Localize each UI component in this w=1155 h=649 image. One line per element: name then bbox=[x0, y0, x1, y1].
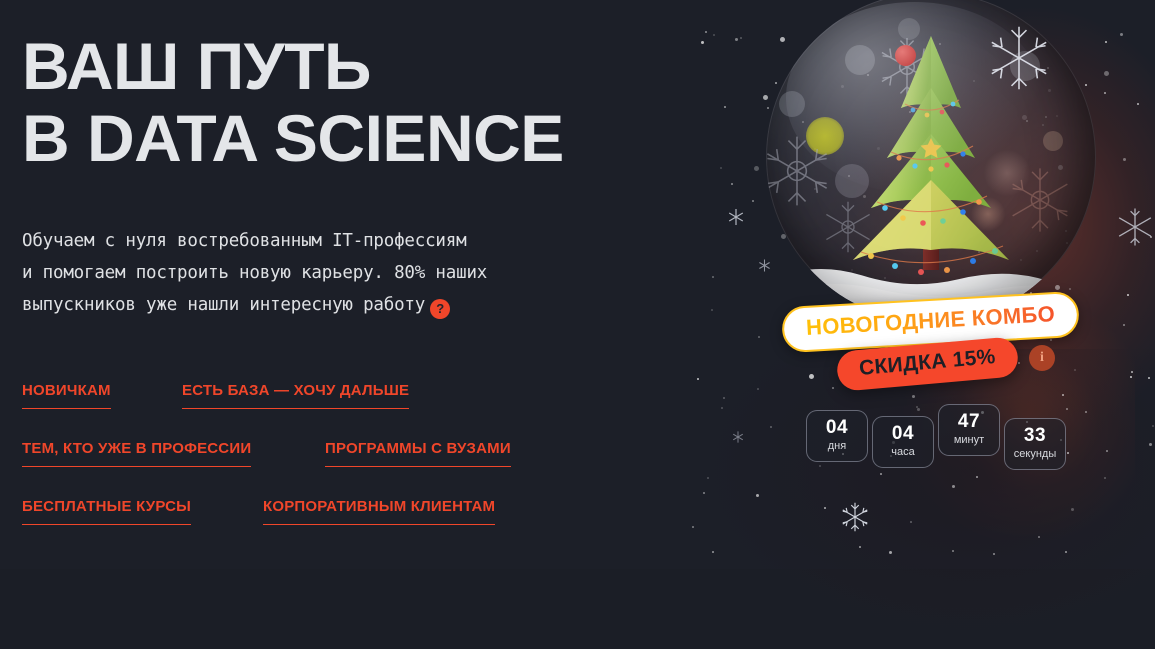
star-dot bbox=[832, 387, 834, 389]
snow-globe bbox=[766, 0, 1096, 322]
hero-content: ВАШ ПУТЬ В DATA SCIENCE Обучаем с нуля в… bbox=[22, 0, 662, 569]
star-dot bbox=[712, 551, 714, 553]
star-dot bbox=[1104, 92, 1106, 94]
globe-rim bbox=[766, 0, 1096, 322]
star-dot bbox=[859, 546, 861, 548]
star-dot bbox=[1050, 339, 1052, 341]
snowflake-icon bbox=[731, 430, 745, 444]
star-dot bbox=[952, 550, 954, 552]
star-dot bbox=[910, 521, 912, 523]
star-dot bbox=[712, 276, 714, 278]
countdown-value: 04 bbox=[892, 424, 914, 444]
star-dot bbox=[1131, 371, 1133, 373]
star-dot bbox=[713, 34, 715, 36]
star-dot bbox=[1065, 551, 1067, 553]
star-dot bbox=[1105, 41, 1107, 43]
star-dot bbox=[1150, 236, 1152, 238]
star-dot bbox=[1062, 394, 1064, 396]
page-title: ВАШ ПУТЬ В DATA SCIENCE bbox=[22, 30, 564, 174]
star-dot bbox=[692, 526, 694, 528]
star-dot bbox=[1152, 425, 1154, 427]
star-dot bbox=[824, 507, 826, 509]
star-dot bbox=[754, 166, 759, 171]
star-dot bbox=[952, 485, 955, 488]
star-dot bbox=[1137, 103, 1139, 105]
promo-combo-label: НОВОГОДНИЕ КОМБО bbox=[805, 301, 1055, 340]
star-dot bbox=[912, 395, 915, 398]
snow-globe-sphere bbox=[766, 0, 1096, 322]
countdown-value: 33 bbox=[1024, 426, 1046, 446]
countdown-box-минут: 47минут bbox=[938, 404, 1000, 456]
star-dot bbox=[707, 477, 709, 479]
countdown-timer: 04дня04часа47минут33секунды bbox=[806, 404, 1146, 484]
star-dot bbox=[721, 407, 723, 409]
star-dot bbox=[1120, 33, 1123, 36]
snowflake-icon bbox=[726, 207, 746, 227]
star-dot bbox=[703, 492, 705, 494]
star-dot bbox=[723, 397, 725, 399]
countdown-label: часа bbox=[891, 445, 914, 460]
help-icon[interactable]: ? bbox=[430, 299, 450, 319]
countdown-value: 04 bbox=[826, 418, 848, 438]
star-dot bbox=[752, 200, 754, 202]
nav-link-5[interactable]: КОРПОРАТИВНЫМ КЛИЕНТАМ bbox=[263, 498, 495, 525]
countdown-box-часа: 04часа bbox=[872, 416, 934, 468]
star-dot bbox=[724, 106, 726, 108]
star-dot bbox=[697, 378, 699, 380]
star-dot bbox=[809, 374, 814, 379]
star-dot bbox=[711, 309, 713, 311]
star-dot bbox=[701, 41, 704, 44]
info-icon-glyph: i bbox=[1040, 350, 1044, 366]
star-dot bbox=[889, 551, 892, 554]
countdown-box-дня: 04дня bbox=[806, 410, 868, 462]
snowflake-icon bbox=[1113, 205, 1155, 249]
star-dot bbox=[1018, 362, 1020, 364]
star-dot bbox=[1130, 376, 1132, 378]
star-dot bbox=[1127, 294, 1129, 296]
star-dot bbox=[1074, 369, 1076, 371]
hero-subtext: Обучаем с нуля востребованным IT-професс… bbox=[22, 225, 487, 321]
star-dot bbox=[731, 183, 733, 185]
star-dot bbox=[1148, 377, 1150, 379]
star-dot bbox=[1123, 158, 1126, 161]
snowflake-icon bbox=[838, 500, 872, 534]
nav-link-4[interactable]: БЕСПЛАТНЫЕ КУРСЫ bbox=[22, 498, 191, 525]
star-dot bbox=[758, 336, 760, 338]
nav-link-3[interactable]: ПРОГРАММЫ С ВУЗАМИ bbox=[325, 440, 511, 467]
star-dot bbox=[757, 388, 759, 390]
star-dot bbox=[1123, 324, 1125, 326]
star-dot bbox=[740, 37, 742, 39]
countdown-label: минут bbox=[954, 433, 984, 448]
background-vignette bbox=[695, 349, 1155, 649]
countdown-box-секунды: 33секунды bbox=[1004, 418, 1066, 470]
star-dot bbox=[720, 167, 722, 169]
star-dot bbox=[1149, 443, 1152, 446]
countdown-value: 47 bbox=[958, 412, 980, 432]
star-dot bbox=[1071, 508, 1074, 511]
info-icon[interactable]: i bbox=[1029, 345, 1055, 371]
star-dot bbox=[1104, 71, 1109, 76]
countdown-label: секунды bbox=[1014, 447, 1056, 462]
nav-link-0[interactable]: НОВИЧКАМ bbox=[22, 382, 111, 409]
star-dot bbox=[1038, 536, 1040, 538]
star-dot bbox=[735, 38, 738, 41]
nav-link-1[interactable]: ЕСТЬ БАЗА — ХОЧУ ДАЛЬШЕ bbox=[182, 382, 409, 409]
countdown-label: дня bbox=[828, 439, 846, 454]
promo-discount-label: СКИДКА 15% bbox=[858, 345, 996, 380]
nav-link-2[interactable]: ТЕМ, КТО УЖЕ В ПРОФЕССИИ bbox=[22, 440, 251, 467]
hero-subtext-text: Обучаем с нуля востребованным IT-професс… bbox=[22, 231, 487, 315]
star-dot bbox=[770, 426, 772, 428]
star-dot bbox=[756, 494, 759, 497]
star-dot bbox=[993, 553, 995, 555]
star-dot bbox=[705, 31, 707, 33]
